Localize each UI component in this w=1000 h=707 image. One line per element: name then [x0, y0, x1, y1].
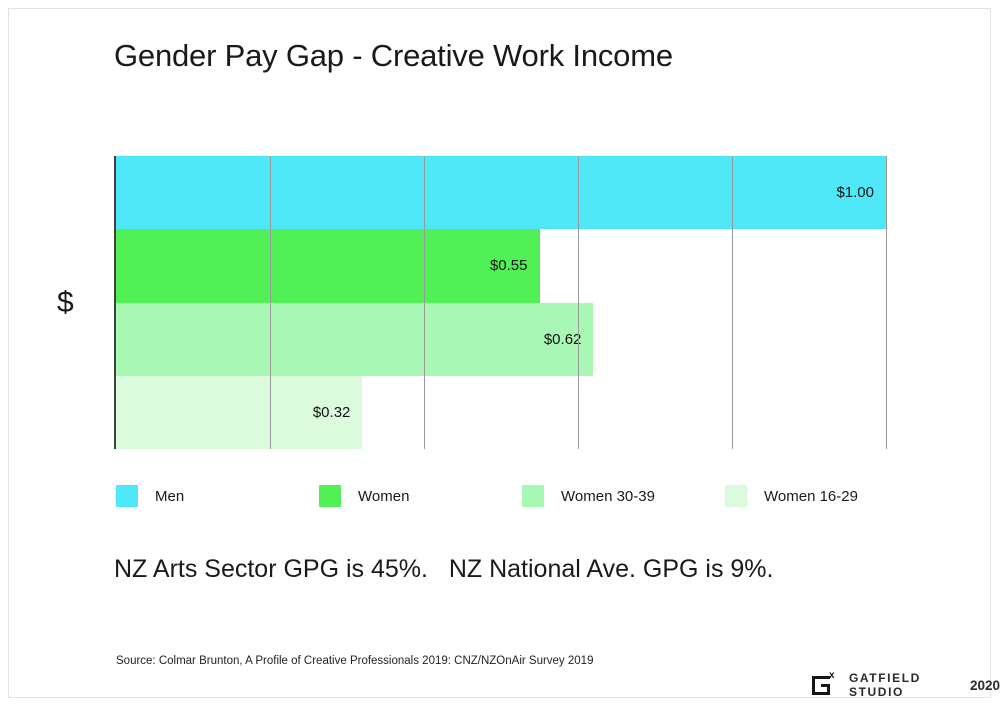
legend-label: Women 30-39: [561, 488, 655, 505]
chart-legend: MenWomenWomen 30-39Women 16-29: [116, 484, 916, 508]
bar-value-label: $1.00: [824, 156, 874, 229]
y-axis-line: [114, 156, 116, 449]
gatfield-g-icon: x: [812, 673, 836, 697]
gridline: [578, 156, 579, 449]
bar-value-label: $0.62: [531, 303, 581, 376]
bar-value-label: $0.55: [478, 229, 528, 302]
source-note: Source: Colmar Brunton, A Profile of Cre…: [116, 655, 593, 667]
page-title: Gender Pay Gap - Creative Work Income: [114, 38, 673, 74]
legend-item-women[interactable]: Women: [319, 484, 409, 508]
gridline: [732, 156, 733, 449]
stat-line: NZ Arts Sector GPG is 45%. NZ National A…: [114, 555, 774, 584]
logo-year: 2020: [970, 678, 1000, 693]
bar-men[interactable]: [116, 156, 886, 229]
bar-row: $0.32: [116, 376, 886, 449]
bar-value-label: $0.32: [300, 376, 350, 449]
legend-swatch-icon: [522, 485, 544, 507]
legend-label: Women 16-29: [764, 488, 858, 505]
legend-item-women-16-29[interactable]: Women 16-29: [725, 484, 858, 508]
chart-plot-area: $1.00$0.55$0.62$0.32: [116, 156, 886, 449]
legend-item-women-30-39[interactable]: Women 30-39: [522, 484, 655, 508]
bar-row: $0.55: [116, 229, 886, 302]
gridline: [424, 156, 425, 449]
gridline: [270, 156, 271, 449]
bar-women-30-39[interactable]: [116, 303, 593, 376]
logo-superscript: x: [829, 671, 835, 681]
logo-wordmark: GATFIELD STUDIO: [849, 671, 963, 699]
legend-label: Women: [358, 488, 409, 505]
footer-logo: x GATFIELD STUDIO 2020: [812, 672, 1000, 698]
legend-swatch-icon: [319, 485, 341, 507]
gridline: [886, 156, 887, 449]
chart-bars: $1.00$0.55$0.62$0.32: [116, 156, 886, 449]
legend-item-men[interactable]: Men: [116, 484, 184, 508]
bar-row: $1.00: [116, 156, 886, 229]
y-axis-label: $: [57, 286, 74, 320]
legend-swatch-icon: [725, 485, 747, 507]
legend-label: Men: [155, 488, 184, 505]
bar-row: $0.62: [116, 303, 886, 376]
bar-women[interactable]: [116, 229, 540, 302]
slide-canvas: Gender Pay Gap - Creative Work Income $ …: [0, 0, 1000, 707]
legend-swatch-icon: [116, 485, 138, 507]
